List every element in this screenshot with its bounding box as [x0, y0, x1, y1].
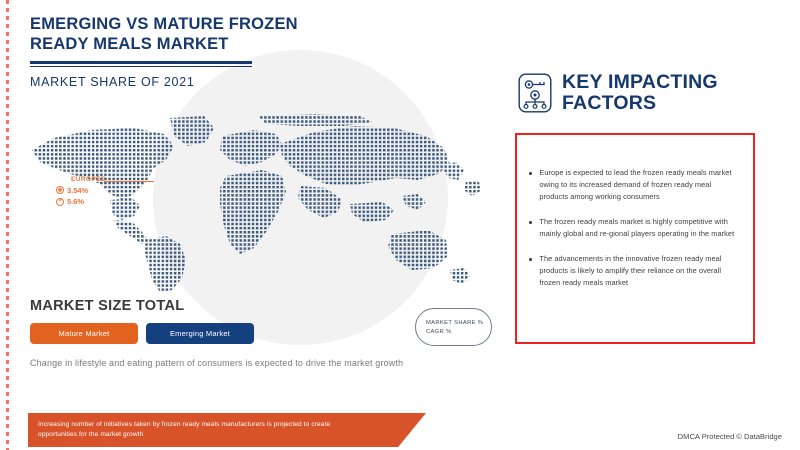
title-divider	[30, 61, 252, 67]
market-share-cagr-badge: MARKET SHARE % CAGR %	[415, 308, 492, 346]
header: EMERGING VS MATURE FROZEN READY MEALS MA…	[30, 14, 360, 89]
key-factors-list: Europe is expected to lead the frozen re…	[517, 135, 753, 289]
market-size-title: MARKET SIZE TOTAL	[30, 298, 254, 314]
legend-mature-market[interactable]: Mature Market	[30, 323, 138, 344]
callout-region-label: EUROPES	[56, 176, 156, 183]
key-factors-title-line1: KEY IMPACTING	[562, 72, 718, 93]
market-size-total: MARKET SIZE TOTAL Mature Market Emerging…	[30, 298, 254, 344]
page-subtitle: MARKET SHARE OF 2021	[30, 75, 360, 89]
list-item: The frozen ready meals market is highly …	[529, 216, 739, 240]
bottom-banner: Increasing number of initiatives taken b…	[28, 413, 426, 447]
page-title: EMERGING VS MATURE FROZEN READY MEALS MA…	[30, 14, 360, 54]
bullet-icon	[529, 221, 532, 224]
bullet-icon	[529, 172, 532, 175]
callout-cagr-row: ↗ 5.6%	[56, 197, 156, 206]
footer-copyright: DMCA Protected © DataBridge	[678, 432, 782, 441]
callout-share-value: 3.54%	[67, 186, 88, 195]
market-share-label: MARKET SHARE %	[426, 320, 491, 326]
cagr-label: CAGR %	[426, 329, 491, 335]
market-legend: Mature Market Emerging Market	[30, 323, 254, 344]
list-item: The advancements in the innovative froze…	[529, 253, 739, 289]
callout-cagr-value: 5.6%	[67, 197, 84, 206]
growth-arrow-icon: ↗	[56, 198, 64, 206]
key-factors-title: KEY IMPACTING FACTORS	[562, 72, 718, 114]
bottom-banner-text: Increasing number of initiatives taken b…	[28, 420, 368, 440]
key-factors-box: Europe is expected to lead the frozen re…	[515, 133, 755, 344]
left-dotted-rail	[6, 0, 9, 450]
key-factors-header: KEY IMPACTING FACTORS	[518, 72, 718, 114]
divider-thick	[30, 61, 252, 63]
map-caption: Change in lifestyle and eating pattern o…	[30, 358, 403, 368]
list-item-text: The frozen ready meals market is highly …	[539, 216, 739, 240]
globe-icon: ◉	[56, 186, 64, 194]
list-item-text: The advancements in the innovative froze…	[539, 253, 739, 289]
list-item: Europe is expected to lead the frozen re…	[529, 167, 739, 203]
legend-emerging-market[interactable]: Emerging Market	[146, 323, 254, 344]
list-item-text: Europe is expected to lead the frozen re…	[539, 167, 739, 203]
europe-callout: EUROPES ◉ 3.54% ↗ 5.6%	[56, 176, 156, 206]
bullet-icon	[529, 258, 532, 261]
divider-thin	[30, 66, 252, 67]
key-factors-title-line2: FACTORS	[562, 93, 718, 114]
callout-share-row: ◉ 3.54%	[56, 186, 156, 195]
key-network-icon	[518, 73, 552, 113]
